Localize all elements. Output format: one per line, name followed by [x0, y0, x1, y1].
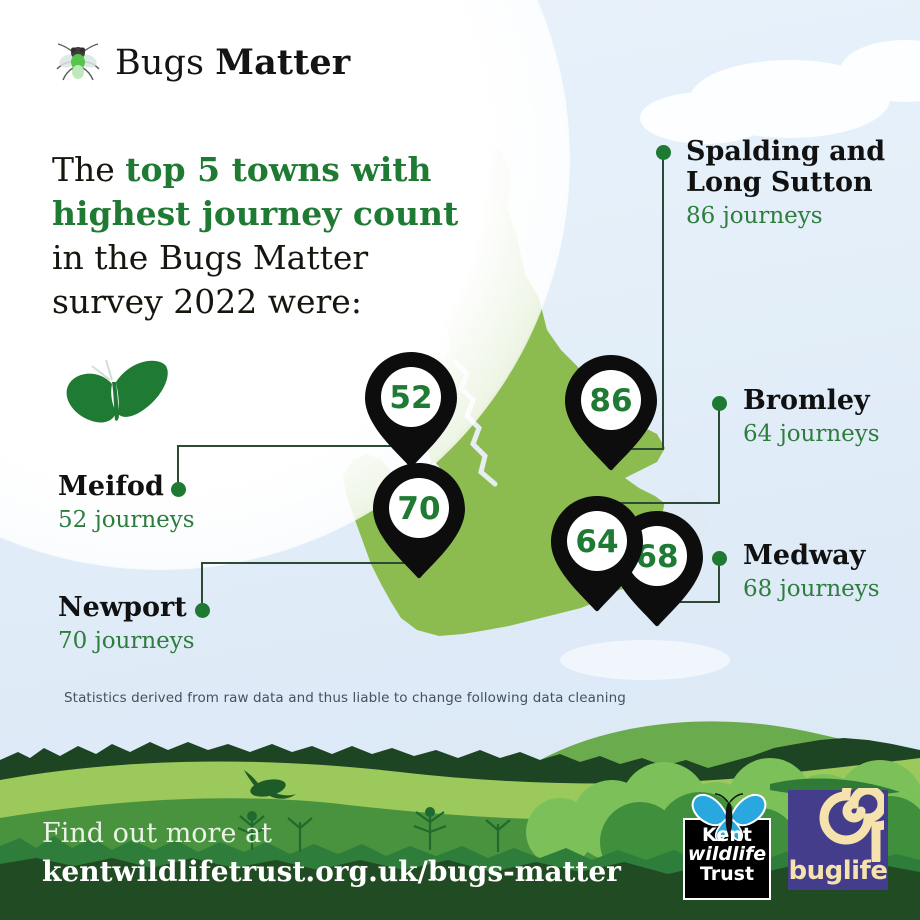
town-name: Meifod — [58, 472, 195, 503]
map-pin-bromley[interactable]: 64 — [551, 496, 643, 612]
dot-medway — [712, 551, 727, 566]
dot-newport — [195, 603, 210, 618]
town-journeys: 68 journeys — [743, 576, 880, 602]
buglife-logo[interactable]: buglife — [788, 790, 888, 890]
kent-wildlife-trust-logo[interactable]: Kent wildlife Trust — [683, 790, 771, 900]
town-journeys: 70 journeys — [58, 628, 195, 654]
spiral-icon — [792, 788, 884, 862]
kwt-line3: Trust — [683, 865, 771, 884]
pin-count: 52 — [365, 352, 457, 444]
map-pin-newport[interactable]: 70 — [373, 463, 465, 579]
town-name: Medway — [743, 541, 880, 572]
label-spalding: Spalding and Long Sutton 86 journeys — [686, 137, 886, 229]
footer-line1: Find out more at — [42, 818, 621, 850]
label-meifod: Meifod 52 journeys — [58, 472, 195, 533]
dot-spalding — [656, 145, 671, 160]
town-journeys: 86 journeys — [686, 203, 886, 229]
buglife-text: buglife — [788, 856, 888, 886]
pin-count: 70 — [373, 463, 465, 555]
map-pin-spalding[interactable]: 86 — [565, 355, 657, 471]
dot-bromley — [712, 396, 727, 411]
label-bromley: Bromley 64 journeys — [743, 386, 880, 447]
town-journeys: 64 journeys — [743, 421, 880, 447]
pin-count: 86 — [565, 355, 657, 447]
footer-url[interactable]: kentwildlifetrust.org.uk/bugs-matter — [42, 855, 621, 888]
town-journeys: 52 journeys — [58, 507, 195, 533]
label-medway: Medway 68 journeys — [743, 541, 880, 602]
label-newport: Newport 70 journeys — [58, 593, 195, 654]
town-name: Newport — [58, 593, 195, 624]
map-pin-meifod[interactable]: 52 — [365, 352, 457, 468]
kwt-line2: wildlife — [683, 845, 771, 864]
pin-count: 64 — [551, 496, 643, 588]
kwt-text: Kent wildlife Trust — [683, 826, 771, 884]
town-name: Bromley — [743, 386, 880, 417]
infographic-canvas: Bugs Matter The top 5 towns with highest… — [0, 0, 920, 920]
footer-cta: Find out more at kentwildlifetrust.org.u… — [42, 818, 621, 888]
town-name: Spalding and Long Sutton — [686, 137, 886, 199]
